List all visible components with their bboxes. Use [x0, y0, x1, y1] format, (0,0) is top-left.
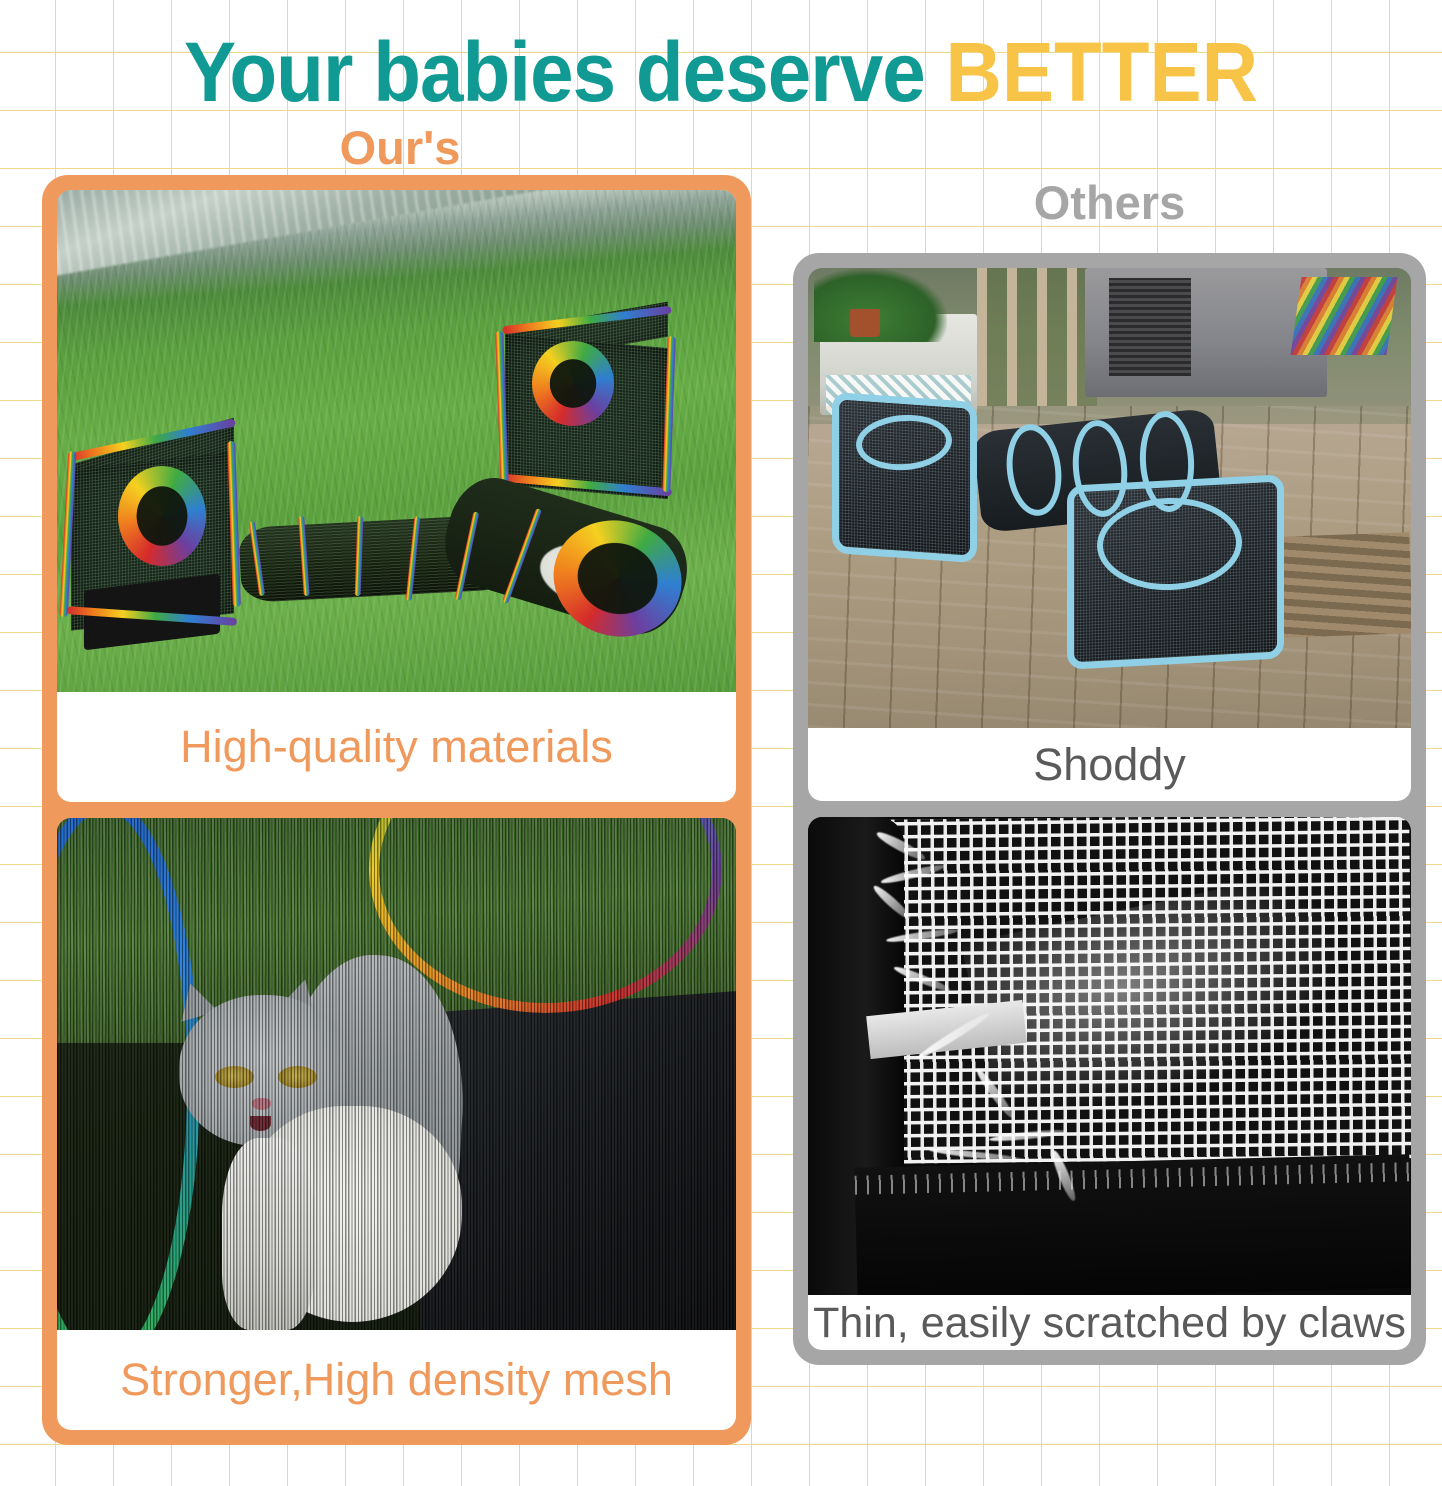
caption-thin-easily-scratched: Thin, easily scratched by claws	[808, 1295, 1411, 1350]
column-label-others: Others	[793, 178, 1426, 228]
caption-shoddy: Shoddy	[808, 728, 1411, 801]
panel-ours: High-quality materials	[42, 175, 751, 1445]
card-others-shoddy: Shoddy	[808, 268, 1411, 801]
cat-eye-left	[215, 1066, 254, 1088]
cube-opening-ring	[532, 341, 613, 426]
panel-others: Shoddy Thin, easily scratche	[793, 253, 1426, 1365]
cat-mouth	[250, 1116, 271, 1130]
grey-white-cat	[172, 931, 525, 1330]
photo-rainbow-tunnel-on-grass	[57, 190, 736, 692]
comparison-infographic: Your babies deserve BETTER Our's Others	[0, 0, 1442, 1486]
terracotta-pot	[850, 309, 880, 337]
water-band	[57, 190, 736, 279]
card-ours-high-quality: High-quality materials	[57, 190, 736, 802]
photo-cat-behind-dense-mesh	[57, 818, 736, 1330]
card-ours-dense-mesh: Stronger,High density mesh	[57, 818, 736, 1430]
headline-teal-text: Your babies deserve	[184, 25, 945, 119]
grey-coop	[1085, 268, 1326, 397]
cat-chest	[222, 1138, 314, 1330]
column-label-ours: Our's	[0, 123, 800, 173]
potted-plant	[814, 268, 947, 342]
rainbow-mat	[1291, 277, 1398, 355]
photo-blue-tunnel-on-deck	[808, 268, 1411, 728]
card-others-thin-mesh: Thin, easily scratched by claws	[808, 817, 1411, 1350]
deck-railing	[977, 268, 1098, 406]
page-title: Your babies deserve BETTER	[50, 26, 1391, 118]
photo-torn-mesh-closeup	[808, 817, 1411, 1295]
caption-stronger-high-density-mesh: Stronger,High density mesh	[57, 1330, 736, 1430]
dark-fabric-hem	[855, 1154, 1411, 1295]
headline-gold-text: BETTER	[946, 25, 1258, 119]
caption-high-quality-materials: High-quality materials	[57, 692, 736, 802]
